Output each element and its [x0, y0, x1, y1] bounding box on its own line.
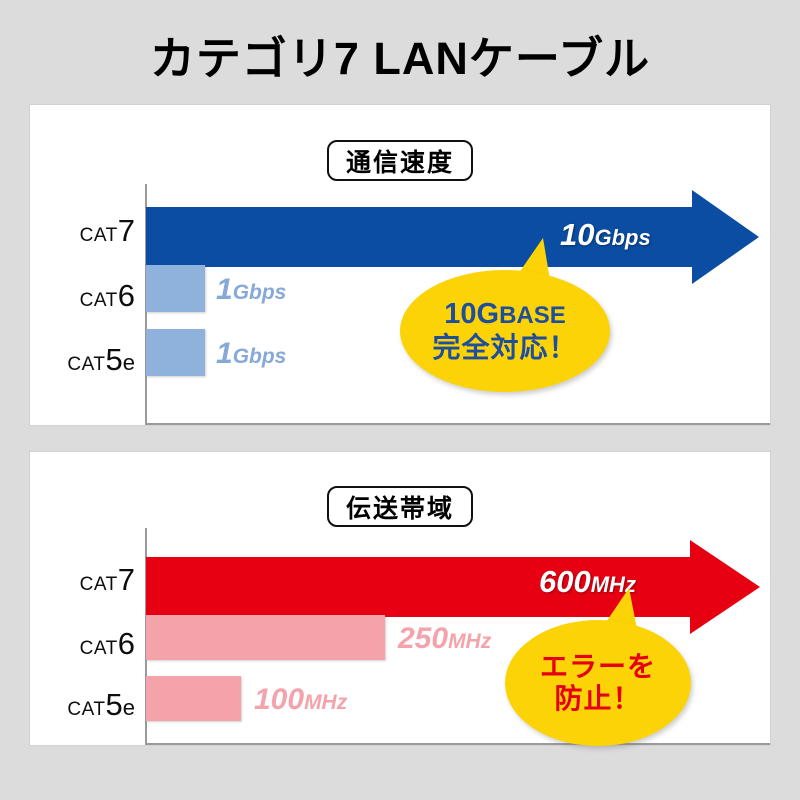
speed-label-cat5e-prefix: CAT — [67, 354, 105, 375]
speed-label-cat6: CAT6 — [30, 278, 135, 314]
bandwidth-label-cat5e-number: 5 — [106, 687, 123, 722]
bandwidth-bar-cat6 — [146, 615, 385, 660]
speed-callout-bubble: 10GBASE 完全対応！ — [400, 270, 610, 392]
speed-label-cat5e-suffix: e — [123, 350, 135, 375]
bandwidth-label-cat5e: CAT5e — [30, 687, 135, 723]
speed-value-cat6: 1Gbps — [216, 273, 286, 307]
speed-bar-cat6 — [146, 265, 205, 312]
speed-chart-title-chip: 通信速度 — [327, 140, 473, 181]
speed-label-cat7-number: 7 — [118, 213, 135, 248]
bandwidth-value-cat6: 250MHz — [398, 622, 491, 656]
bandwidth-label-cat7-prefix: CAT — [80, 574, 118, 595]
speed-label-cat5e-number: 5 — [106, 342, 123, 377]
speed-axis-baseline — [145, 423, 770, 425]
bandwidth-chart-title-chip: 伝送帯域 — [327, 486, 473, 527]
page-title: カテゴリ7 LANケーブル — [0, 22, 800, 87]
bandwidth-bar-cat5e — [146, 676, 241, 721]
bandwidth-callout-bubble: エラーを 防止！ — [505, 620, 691, 746]
infographic-stage: カテゴリ7 LANケーブル 通信速度 CAT7 10Gbps CAT6 1Gbp… — [0, 0, 800, 800]
bandwidth-label-cat6: CAT6 — [30, 626, 135, 662]
speed-value-cat7: 10Gbps — [560, 217, 651, 253]
speed-bar-cat5e — [146, 329, 205, 376]
bandwidth-callout-line2: 防止！ — [554, 684, 641, 715]
speed-value-cat5e: 1Gbps — [216, 337, 286, 371]
bandwidth-label-cat7-number: 7 — [118, 562, 135, 597]
speed-label-cat6-number: 6 — [118, 278, 135, 313]
speed-label-cat7: CAT7 — [30, 213, 135, 249]
bandwidth-callout-text: エラーを 防止！ — [505, 620, 691, 746]
bandwidth-label-cat6-number: 6 — [118, 626, 135, 661]
speed-callout-line1: 10GBASE — [444, 299, 566, 331]
speed-callout-line2: 完全対応！ — [432, 333, 577, 364]
speed-label-cat7-prefix: CAT — [80, 225, 118, 246]
bandwidth-label-cat7: CAT7 — [30, 562, 135, 598]
speed-callout-text: 10GBASE 完全対応！ — [400, 270, 610, 392]
bandwidth-value-cat5e: 100MHz — [254, 683, 347, 717]
speed-label-cat6-prefix: CAT — [80, 290, 118, 311]
bandwidth-label-cat5e-prefix: CAT — [67, 699, 105, 720]
bandwidth-label-cat5e-suffix: e — [123, 695, 135, 720]
bandwidth-label-cat6-prefix: CAT — [80, 638, 118, 659]
speed-label-cat5e: CAT5e — [30, 342, 135, 378]
bandwidth-callout-line1: エラーを — [540, 652, 656, 683]
